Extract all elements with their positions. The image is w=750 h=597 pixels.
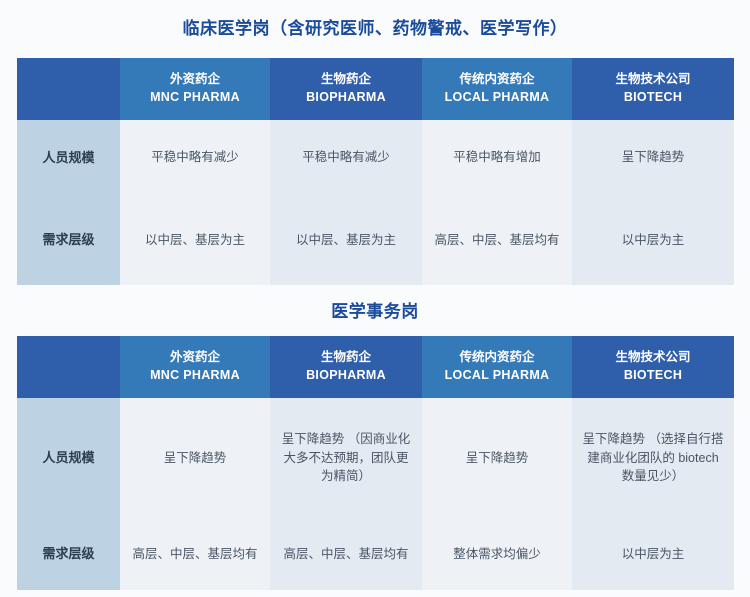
row-label-headcount: 人员规模 bbox=[17, 398, 120, 518]
column-header-en: MNC PHARMA bbox=[120, 367, 270, 385]
row-label-headcount: 人员规模 bbox=[17, 120, 120, 195]
column-header-cn: 传统内资药企 bbox=[422, 349, 572, 367]
cell-headcount-mnc: 平稳中略有减少 bbox=[120, 120, 270, 195]
section-title-clinical: 临床医学岗（含研究医师、药物警戒、医学写作） bbox=[0, 20, 750, 37]
cell-headcount-biotech: 呈下降趋势 bbox=[572, 120, 734, 195]
table-row: 需求层级 高层、中层、基层均有 高层、中层、基层均有 整体需求均偏少 以中层为主 bbox=[17, 518, 734, 590]
column-header-cn: 外资药企 bbox=[120, 71, 270, 89]
column-header-cn: 生物药企 bbox=[270, 71, 422, 89]
row-label-demand-level: 需求层级 bbox=[17, 195, 120, 285]
column-header-mnc-pharma: 外资药企 MNC PHARMA bbox=[120, 58, 270, 120]
cell-level-biopharma: 以中层、基层为主 bbox=[270, 195, 422, 285]
column-header-local-pharma: 传统内资药企 LOCAL PHARMA bbox=[422, 58, 572, 120]
table-medical-affairs: 外资药企 MNC PHARMA 生物药企 BIOPHARMA 传统内资药企 LO… bbox=[17, 336, 734, 590]
column-header-cn: 生物药企 bbox=[270, 349, 422, 367]
header-corner-cell bbox=[17, 58, 120, 120]
column-header-cn: 生物技术公司 bbox=[572, 71, 734, 89]
column-header-cn: 外资药企 bbox=[120, 349, 270, 367]
cell-level-mnc: 高层、中层、基层均有 bbox=[120, 518, 270, 590]
column-header-en: LOCAL PHARMA bbox=[422, 89, 572, 107]
cell-level-mnc: 以中层、基层为主 bbox=[120, 195, 270, 285]
column-header-en: LOCAL PHARMA bbox=[422, 367, 572, 385]
cell-headcount-biopharma: 平稳中略有减少 bbox=[270, 120, 422, 195]
column-header-en: MNC PHARMA bbox=[120, 89, 270, 107]
column-header-local-pharma: 传统内资药企 LOCAL PHARMA bbox=[422, 336, 572, 398]
column-header-biotech: 生物技术公司 BIOTECH bbox=[572, 58, 734, 120]
table-header-row: 外资药企 MNC PHARMA 生物药企 BIOPHARMA 传统内资药企 LO… bbox=[17, 58, 734, 120]
cell-headcount-mnc: 呈下降趋势 bbox=[120, 398, 270, 518]
row-label-demand-level: 需求层级 bbox=[17, 518, 120, 590]
cell-headcount-local: 呈下降趋势 bbox=[422, 398, 572, 518]
cell-headcount-biopharma: 呈下降趋势 （因商业化大多不达预期，团队更为精简） bbox=[270, 398, 422, 518]
column-header-en: BIOPHARMA bbox=[270, 89, 422, 107]
cell-level-biotech: 以中层为主 bbox=[572, 518, 734, 590]
cell-level-biopharma: 高层、中层、基层均有 bbox=[270, 518, 422, 590]
column-header-biotech: 生物技术公司 BIOTECH bbox=[572, 336, 734, 398]
column-header-cn: 传统内资药企 bbox=[422, 71, 572, 89]
column-header-cn: 生物技术公司 bbox=[572, 349, 734, 367]
infographic-page: 临床医学岗（含研究医师、药物警戒、医学写作） 外资药企 MNC PHARMA 生… bbox=[0, 0, 750, 597]
column-header-biopharma: 生物药企 BIOPHARMA bbox=[270, 336, 422, 398]
header-corner-cell bbox=[17, 336, 120, 398]
cell-headcount-biotech: 呈下降趋势 （选择自行搭建商业化团队的 biotech 数量见少） bbox=[572, 398, 734, 518]
cell-level-local: 整体需求均偏少 bbox=[422, 518, 572, 590]
column-header-en: BIOTECH bbox=[572, 89, 734, 107]
section-title-medical-affairs: 医学事务岗 bbox=[0, 303, 750, 320]
cell-headcount-local: 平稳中略有增加 bbox=[422, 120, 572, 195]
table-row: 人员规模 呈下降趋势 呈下降趋势 （因商业化大多不达预期，团队更为精简） 呈下降… bbox=[17, 398, 734, 518]
matrix-table: 外资药企 MNC PHARMA 生物药企 BIOPHARMA 传统内资药企 LO… bbox=[17, 336, 734, 590]
matrix-table: 外资药企 MNC PHARMA 生物药企 BIOPHARMA 传统内资药企 LO… bbox=[17, 58, 734, 285]
column-header-biopharma: 生物药企 BIOPHARMA bbox=[270, 58, 422, 120]
cell-level-biotech: 以中层为主 bbox=[572, 195, 734, 285]
table-header-row: 外资药企 MNC PHARMA 生物药企 BIOPHARMA 传统内资药企 LO… bbox=[17, 336, 734, 398]
table-row: 人员规模 平稳中略有减少 平稳中略有减少 平稳中略有增加 呈下降趋势 bbox=[17, 120, 734, 195]
column-header-mnc-pharma: 外资药企 MNC PHARMA bbox=[120, 336, 270, 398]
cell-level-local: 高层、中层、基层均有 bbox=[422, 195, 572, 285]
table-clinical-medical: 外资药企 MNC PHARMA 生物药企 BIOPHARMA 传统内资药企 LO… bbox=[17, 58, 734, 285]
column-header-en: BIOTECH bbox=[572, 367, 734, 385]
column-header-en: BIOPHARMA bbox=[270, 367, 422, 385]
table-row: 需求层级 以中层、基层为主 以中层、基层为主 高层、中层、基层均有 以中层为主 bbox=[17, 195, 734, 285]
